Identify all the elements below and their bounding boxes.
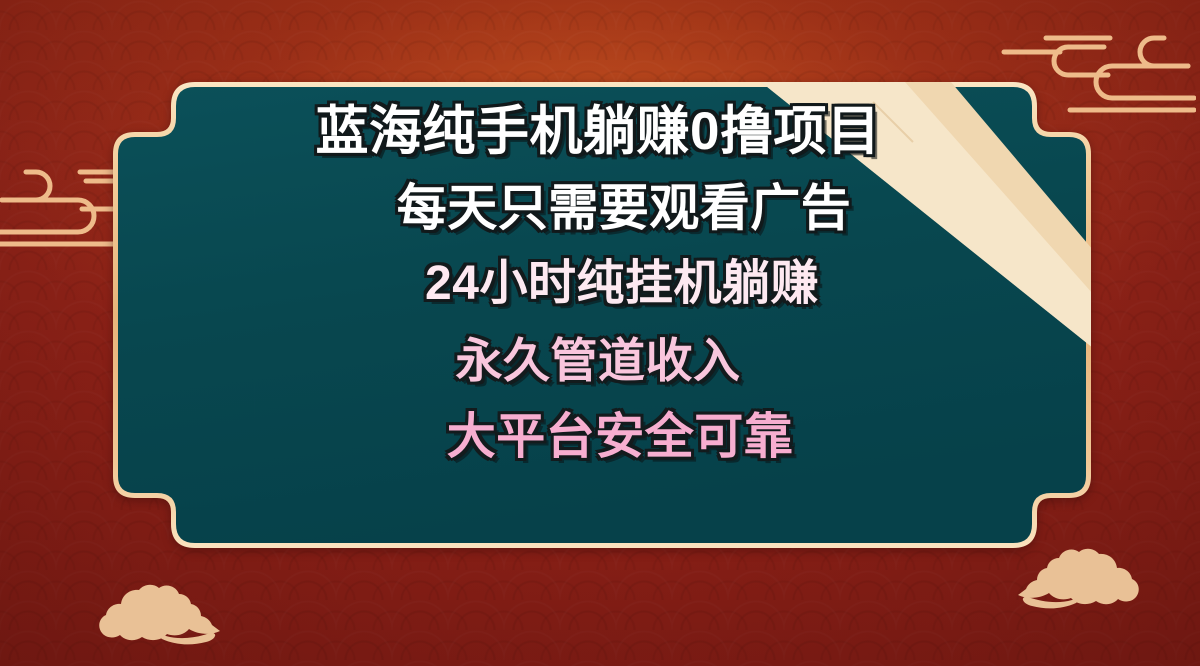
- headline-line-1: 蓝海纯手机躺赚0撸项目: [316, 104, 881, 160]
- auspicious-cloud-icon: [1018, 538, 1168, 621]
- poster-canvas: 蓝海纯手机躺赚0撸项目 每天只需要观看广告 24小时纯挂机躺赚 永久管道收入 大…: [0, 0, 1200, 666]
- headline-line-5: 大平台安全可靠: [447, 412, 794, 464]
- headline-line-3: 24小时纯挂机躺赚: [425, 259, 819, 310]
- headline-line-4: 永久管道收入: [456, 336, 741, 386]
- headline-block: 蓝海纯手机躺赚0撸项目 每天只需要观看广告 24小时纯挂机躺赚 永久管道收入 大…: [113, 80, 1091, 550]
- auspicious-cloud-icon: [70, 574, 220, 657]
- headline-line-2: 每天只需要观看广告: [397, 182, 852, 235]
